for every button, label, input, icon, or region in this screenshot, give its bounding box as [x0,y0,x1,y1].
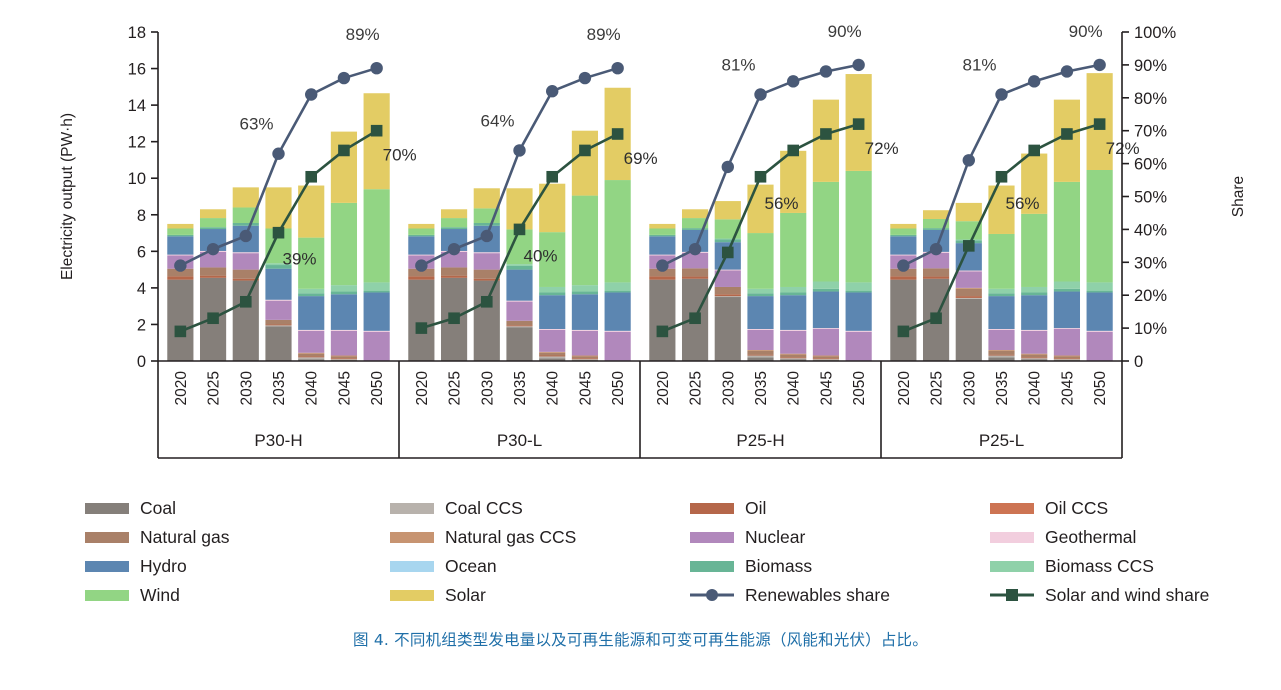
bar-segment-oil [441,276,467,278]
renewables-share-point [272,148,284,160]
legend-swatch-biomass-ccs [990,561,1034,572]
x-tick-label-year: 2035 [512,371,529,405]
bar-segment-geothermal [539,329,565,330]
legend-item-solar-and-wind-share[interactable]: Solar and wind share [990,585,1209,605]
bar-segment-hydro [846,292,872,330]
bar-segment-solar [474,188,500,208]
x-tick-label-year: 2025 [206,371,223,405]
bar-segment-biomass-ccs [988,289,1014,294]
bar-segment-geothermal [813,328,839,329]
bar-segment-geothermal [956,271,982,272]
bar-segment-wind [605,180,631,282]
legend-label-coal-ccs: Coal CCS [445,498,523,518]
x-tick-label-year: 2025 [447,371,464,405]
legend-label-biomass: Biomass [745,556,812,576]
bar-segment-coal-ccs [298,357,324,359]
legend-label-oil: Oil [745,498,766,518]
legend-item-ocean[interactable]: Ocean [390,556,497,576]
bar-segment-geothermal [298,330,324,331]
bar-segment-biomass-ccs [605,282,631,290]
x-tick-label-year: 2050 [369,371,386,406]
bar-segment-natural-gas [988,351,1014,355]
figure-container: 63%89%39%70%64%89%40%69%81%90%56%72%81%9… [0,0,1281,690]
bar-segment-solar [649,224,675,229]
bar-segment-oil [1054,358,1080,359]
bar-segment-wind [331,203,357,285]
bar-segment-biomass [298,293,324,296]
x-group-label-P30-L: P30-L [497,431,542,450]
bar-segment-biomass [923,228,949,230]
legend-item-renewables-share[interactable]: Renewables share [690,585,890,605]
bar-segment-wind [747,233,773,289]
bar-segment-natural-gas [780,355,806,358]
bar-segment-hydro [572,294,598,330]
bar-segment-natural-gas-ccs [956,288,982,289]
x-tick-label-year: 2050 [1092,371,1109,406]
bar-segment-solar [200,209,226,218]
legend-swatch-oil [690,503,734,514]
legend-label-wind: Wind [140,585,180,605]
solar-wind-share-point [416,322,428,334]
legend-swatch-nuclear [690,532,734,543]
bar-segment-hydro [890,236,916,254]
bar-segment-solar [441,209,467,218]
bar-segment-coal [506,327,532,361]
bar-segment-hydro [167,236,193,254]
legend-item-biomass[interactable]: Biomass [690,556,812,576]
solar-wind-share-point [612,128,624,140]
bar-segment-oil [506,325,532,326]
bar-segment-natural-gas [682,268,708,276]
legend-item-natural-gas-ccs[interactable]: Natural gas CCS [390,527,576,547]
bar-segment-biomass-ccs [539,287,565,292]
bar-segment-oil [780,357,806,358]
legend-item-hydro[interactable]: Hydro [85,556,187,576]
bar-segment-geothermal [408,255,434,256]
bar-segment-hydro [747,296,773,329]
legend-swatch-wind [85,590,129,601]
bar-segment-biomass-ccs [813,281,839,288]
bar-segment-coal-ccs [715,296,741,297]
legend-label-nuclear: Nuclear [745,527,805,547]
x-tick-label-year: 2040 [304,371,321,406]
bar-P25-L-2050[interactable] [1087,73,1113,361]
bar-segment-biomass [890,235,916,236]
bar-segment-biomass [572,292,598,295]
bar-segment-natural-gas [331,356,357,358]
annotation-solar-wind-share-P25-H-2035: 56% [765,194,799,213]
legend-swatch-coal [85,503,129,514]
x-tick-label-year: 2030 [238,371,255,406]
solar-wind-share-point [371,125,383,137]
bar-segment-natural-gas [1054,356,1080,358]
x-tick-label-year: 2050 [851,371,868,406]
bar-P30-L-2045[interactable] [572,131,598,361]
bar-segment-oil [890,276,916,279]
renewables-share-point [995,88,1007,100]
bar-segment-hydro [605,292,631,330]
solar-wind-share-point [930,312,942,324]
renewables-share-point [689,243,701,255]
bar-P25-L-2020[interactable] [890,224,916,361]
x-tick-label-year: 2025 [688,371,705,405]
bar-segment-geothermal [167,255,193,256]
bar-segment-solar [408,224,434,229]
legend-label-solar-and-wind-share: Solar and wind share [1045,585,1209,605]
x-tick-label-year: 2035 [994,371,1011,405]
bar-segment-biomass [233,223,259,226]
bar-segment-solar [167,224,193,229]
bar-segment-geothermal [474,252,500,253]
figure-caption: 图 4. 不同机组类型发电量以及可再生能源和可变可再生能源（风能和光伏）占比。 [0,628,1281,650]
bar-P25-L-2025[interactable] [923,210,949,361]
bar-segment-coal [233,281,259,361]
y-tick-label-right: 90% [1134,57,1167,75]
bar-segment-oil [200,276,226,278]
x-tick-label-year: 2040 [545,371,562,406]
renewables-share-point [1093,59,1105,71]
bar-segment-biomass [988,293,1014,296]
bar-segment-nuclear [265,301,291,320]
renewables-share-point [963,154,975,166]
legend-item-wind[interactable]: Wind [85,585,180,605]
renewables-share-point [656,259,668,271]
bar-P30-H-2025[interactable] [200,209,226,361]
bar-segment-coal-ccs [747,356,773,358]
annotation-renewables-share-P25-H-2050: 90% [828,22,862,41]
renewables-share-point [1028,75,1040,87]
bar-segment-hydro [813,292,839,329]
x-tick-label-year: 2045 [577,371,594,405]
solar-wind-share-point [820,128,832,140]
solar-wind-share-point [689,312,701,324]
renewables-share-point [207,243,219,255]
bar-segment-geothermal [1054,328,1080,329]
bar-segment-coal-ccs [572,359,598,360]
bar-P25-H-2050[interactable] [846,74,872,361]
solar-wind-share-point [481,296,493,308]
legend-marker-circle-renewables-share [706,589,718,601]
x-tick-label-year: 2045 [1059,371,1076,405]
bar-segment-biomass-ccs [331,285,357,291]
bar-segment-geothermal [846,331,872,332]
bar-segment-nuclear [506,302,532,321]
legend-label-geothermal: Geothermal [1045,527,1136,547]
bar-P30-H-2020[interactable] [167,224,193,361]
bar-segment-natural-gas-ccs [539,352,565,353]
bar-segment-geothermal [988,329,1014,330]
bar-segment-biomass [331,292,357,295]
bar-segment-oil [715,294,741,296]
bar-segment-nuclear [1054,329,1080,356]
bar-segment-nuclear [539,330,565,352]
bar-segment-oil [265,324,291,325]
x-tick-label-year: 2045 [336,371,353,405]
y-tick-label-right: 40% [1134,221,1167,239]
bar-segment-biomass [408,235,434,236]
bar-segment-hydro [1054,292,1080,329]
bar-segment-hydro [364,292,390,330]
solar-wind-share-point [898,326,910,338]
bar-segment-wind [846,171,872,282]
annotation-solar-wind-share-P30-L-2035: 40% [524,246,558,265]
legend-item-solar[interactable]: Solar [390,585,486,605]
x-tick-label-year: 2050 [610,371,627,406]
legend-swatch-natural-gas [85,532,129,543]
legend-item-natural-gas[interactable]: Natural gas [85,527,230,547]
legend: CoalCoal CCSOilOil CCSNatural gasNatural… [85,498,1209,605]
bar-segment-nuclear [747,330,773,350]
y-tick-label-right: 60% [1134,156,1167,174]
renewables-share-point [579,72,591,84]
renewables-share-point [754,88,766,100]
solar-wind-share-point [546,171,558,183]
bar-segment-oil [408,276,434,279]
legend-item-coal[interactable]: Coal [85,498,176,518]
legend-label-ocean: Ocean [445,556,497,576]
bar-segment-oil [956,296,982,298]
bar-segment-natural-gas-ccs [572,356,598,357]
bar-segment-hydro [506,270,532,301]
bar-segment-natural-gas [265,320,291,325]
legend-item-geothermal[interactable]: Geothermal [990,527,1136,547]
bar-segment-coal-ccs [956,298,982,299]
renewables-share-point [174,259,186,271]
bar-P25-L-2040[interactable] [1021,154,1047,361]
y-axis-label-right: Share [1230,176,1247,217]
bar-segment-oil [923,277,949,279]
solar-wind-share-point [448,312,460,324]
bar-segment-geothermal [605,331,631,332]
solar-wind-share-point [996,171,1008,183]
bar-segment-coal-ccs [1021,358,1047,359]
bar-segment-natural-gas-ccs [331,356,357,357]
legend-item-oil-ccs[interactable]: Oil CCS [990,498,1108,518]
bar-segment-biomass [605,291,631,293]
chart-svg: 63%89%39%70%64%89%40%69%81%90%56%72%81%9… [0,0,1281,625]
annotation-renewables-share-P25-H-2035: 81% [721,56,755,75]
bar-P30-L-2025[interactable] [441,209,467,361]
solar-wind-share-point [1061,128,1073,140]
bar-segment-natural-gas-ccs [747,350,773,351]
bar-segment-wind [441,218,467,227]
renewables-share-point [1061,65,1073,77]
bar-segment-nuclear [780,331,806,354]
legend-swatch-ocean [390,561,434,572]
bar-P25-H-2040[interactable] [780,151,806,361]
bar-segment-coal-ccs [506,326,532,327]
bar-segment-biomass [649,235,675,236]
bar-segment-oil [1021,357,1047,358]
legend-label-natural-gas: Natural gas [140,527,230,547]
legend-item-oil[interactable]: Oil [690,498,766,518]
bar-segment-oil [747,355,773,356]
bar-segment-nuclear [233,253,259,269]
annotation-renewables-share-P30-H-2050: 89% [346,25,380,44]
legend-item-coal-ccs[interactable]: Coal CCS [390,498,523,518]
renewables-share-point [897,259,909,271]
bar-segment-biomass-ccs [780,287,806,292]
bar-segment-natural-gas-ccs [1021,354,1047,355]
renewables-share-point [820,65,832,77]
bar-segment-hydro [649,236,675,254]
bar-segment-solar [923,210,949,219]
bar-segment-biomass [167,235,193,236]
y-tick-label-left: 6 [137,243,146,261]
bar-segment-geothermal [1087,331,1113,332]
solar-wind-share-point [963,240,975,252]
x-tick-label-year: 2020 [414,371,431,406]
x-tick-label-year: 2030 [961,371,978,406]
bar-P25-H-2025[interactable] [682,209,708,361]
bar-segment-biomass-ccs [572,285,598,291]
y-tick-label-left: 2 [137,316,146,334]
bar-P30-L-2040[interactable] [539,184,565,361]
y-tick-label-right: 30% [1134,254,1167,272]
bar-segment-nuclear [298,331,324,353]
bar-segment-hydro [539,295,565,329]
y-tick-label-left: 4 [137,280,146,298]
bar-segment-solar [233,187,259,207]
bar-segment-wind [408,228,434,234]
renewables-share-point [415,259,427,271]
bar-segment-biomass-ccs [715,239,741,240]
y-tick-label-left: 8 [137,207,146,225]
bar-segment-coal-ccs [265,325,291,326]
bar-segment-oil [649,276,675,279]
solar-wind-share-point [514,224,526,236]
bar-segment-solar [956,203,982,221]
x-tick-label-year: 2040 [786,371,803,406]
solar-wind-share-point [305,171,317,183]
x-tick-label-year: 2035 [753,371,770,405]
bar-segment-biomass [715,239,741,242]
bar-segment-solar [1054,100,1080,182]
solar-wind-share-point [853,118,865,130]
annotation-solar-wind-share-P30-L-2050: 69% [624,149,658,168]
bar-segment-solar [890,224,916,229]
x-tick-label-year: 2030 [479,371,496,406]
solar-wind-share-point [787,145,799,157]
bar-P25-H-2030[interactable] [715,201,741,361]
bar-segment-natural-gas [956,289,982,296]
bar-P25-H-2020[interactable] [649,224,675,361]
bar-segment-wind [1054,182,1080,282]
y-tick-label-right: 0 [1134,353,1143,371]
bar-P30-H-2045[interactable] [331,132,357,361]
y-tick-label-left: 16 [128,61,146,79]
bar-P30-H-2040[interactable] [298,186,324,361]
bar-segment-wind [890,228,916,234]
annotation-renewables-share-P30-H-2035: 63% [239,115,273,134]
bar-segment-natural-gas [1021,355,1047,358]
x-tick-label-year: 2025 [929,371,946,405]
bar-segment-natural-gas [923,268,949,276]
bar-segment-coal [474,281,500,361]
bar-segment-biomass-ccs [747,289,773,294]
bar-segment-biomass [1087,291,1113,293]
y-tick-label-left: 12 [128,134,146,152]
bar-segment-natural-gas [474,270,500,279]
bar-segment-biomass [200,227,226,229]
bar-segment-nuclear [331,331,357,356]
bar-P30-L-2020[interactable] [408,224,434,361]
renewables-share-point [546,85,558,97]
bar-segment-solar [572,131,598,196]
bar-segment-solar [506,188,532,229]
solar-wind-share-point [722,247,734,259]
legend-label-biomass-ccs: Biomass CCS [1045,556,1154,576]
bar-segment-coal [167,280,193,361]
x-group-label-P25-L: P25-L [979,431,1024,450]
y-tick-label-left: 0 [137,353,146,371]
bar-segment-biomass-ccs [298,289,324,294]
legend-item-biomass-ccs[interactable]: Biomass CCS [990,556,1154,576]
bar-segment-natural-gas [747,351,773,355]
bar-segment-geothermal [572,330,598,331]
bar-segment-biomass-ccs [364,282,390,290]
bar-segment-biomass [506,266,532,270]
bar-segment-biomass [441,227,467,229]
solar-wind-share-point [273,227,285,239]
bar-segment-wind [780,213,806,287]
bar-segment-oil [331,358,357,359]
bar-segment-coal-ccs [813,359,839,360]
bar-segment-coal [956,299,982,361]
bar-segment-nuclear [364,332,390,361]
bar-segment-geothermal [890,255,916,256]
x-group-label-P30-H: P30-H [254,431,302,450]
renewables-share-point [370,62,382,74]
renewables-share-point [722,161,734,173]
renewables-share-point [930,243,942,255]
bars-layer [167,73,1112,361]
bar-segment-oil [572,358,598,359]
y-tick-label-right: 10% [1134,320,1167,338]
bar-segment-biomass [747,293,773,296]
x-tick-label-year: 2035 [271,371,288,405]
bar-segment-wind [167,228,193,234]
legend-swatch-oil-ccs [990,503,1034,514]
bar-segment-nuclear [813,329,839,356]
bar-segment-natural-gas [715,287,741,294]
bar-segment-natural-gas [233,270,259,279]
legend-label-coal: Coal [140,498,176,518]
legend-marker-square-solar-and-wind-share [1006,589,1018,601]
legend-swatch-geothermal [990,532,1034,543]
legend-item-nuclear[interactable]: Nuclear [690,527,805,547]
solar-wind-share-point [755,171,767,183]
bar-segment-coal [649,280,675,361]
solar-wind-share-point [1028,145,1040,157]
bar-segment-wind [572,196,598,286]
bar-segment-wind [649,228,675,234]
legend-label-hydro: Hydro [140,556,187,576]
bar-segment-hydro [988,296,1014,329]
bar-segment-nuclear [956,271,982,287]
bar-P30-H-2035[interactable] [265,187,291,361]
legend-swatch-biomass [690,561,734,572]
bar-segment-hydro [298,296,324,330]
bar-segment-nuclear [1021,331,1047,354]
solar-wind-share-point [175,326,187,338]
y-tick-label-left: 10 [128,170,146,188]
legend-swatch-natural-gas-ccs [390,532,434,543]
renewables-share-point [611,62,623,74]
solar-wind-share-point [579,145,591,157]
bar-segment-coal [890,280,916,361]
annotation-solar-wind-share-P25-L-2035: 56% [1006,194,1040,213]
